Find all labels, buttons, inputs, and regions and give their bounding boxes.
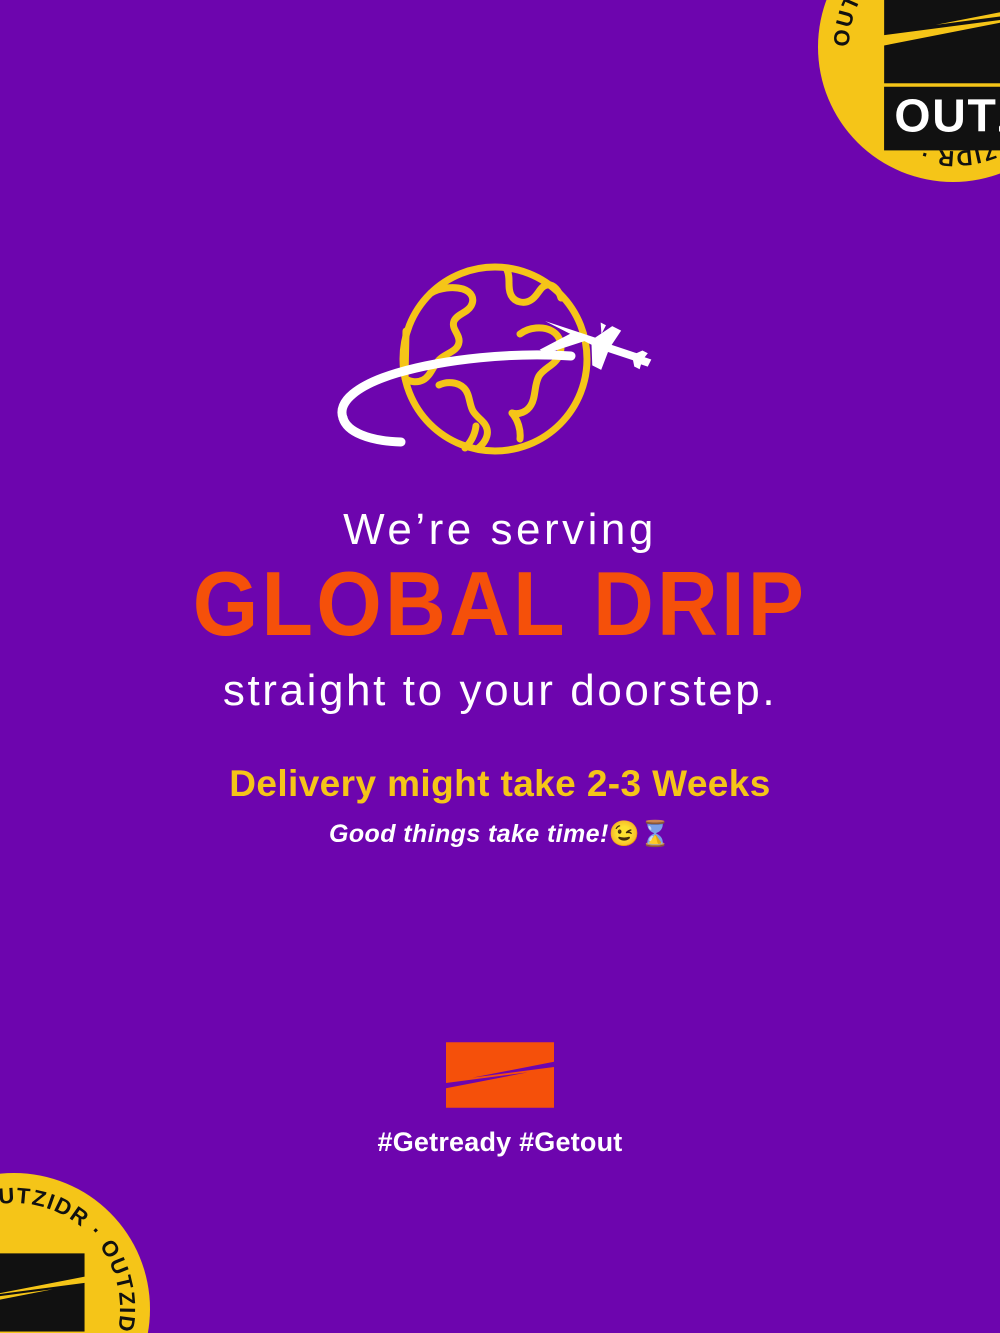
headline-line-3: straight to your doorstep. — [0, 666, 1000, 715]
badge-wordmark: OUTZIDR — [884, 87, 1000, 150]
badge-top-right: OUTZIDR · OUTZIDR · OUTZIDR · OUTZIDR · … — [818, 0, 1000, 182]
promo-poster: OUTZIDR · OUTZIDR · OUTZIDR · OUTZIDR · … — [0, 0, 1000, 1333]
z-mark-icon — [884, 0, 1000, 83]
delivery-subtext: Good things take time!😉⌛ — [0, 819, 1000, 849]
headline-line-1: We’re serving — [0, 505, 1000, 554]
delivery-note-block: Delivery might take 2-3 Weeks Good thing… — [0, 762, 1000, 849]
outzidr-z-logo-icon — [446, 1038, 554, 1112]
badge-core-top-right: OUTZIDR — [860, 0, 1000, 150]
hashtags-text: #Getready #Getout — [0, 1126, 1000, 1158]
headline-line-2: GLOBAL DRIP — [0, 555, 1000, 655]
footer-brand-block: #Getready #Getout — [0, 1038, 1000, 1158]
globe-airplane-icon — [335, 252, 665, 472]
badge-core-bottom-left: OUTZIDR — [0, 1253, 100, 1333]
headline-block: We’re serving GLOBAL DRIP straight to yo… — [0, 505, 1000, 715]
wink-hourglass-emoji: 😉⌛ — [609, 820, 671, 848]
hero-icon-wrap — [0, 252, 1000, 472]
delivery-subtext-label: Good things take time! — [329, 820, 609, 848]
z-mark-icon — [0, 1253, 85, 1331]
delivery-time-text: Delivery might take 2-3 Weeks — [0, 762, 1000, 806]
badge-bottom-left: OUTZIDR · OUTZIDR · OUTZIDR · OUTZIDR · … — [0, 1173, 150, 1333]
